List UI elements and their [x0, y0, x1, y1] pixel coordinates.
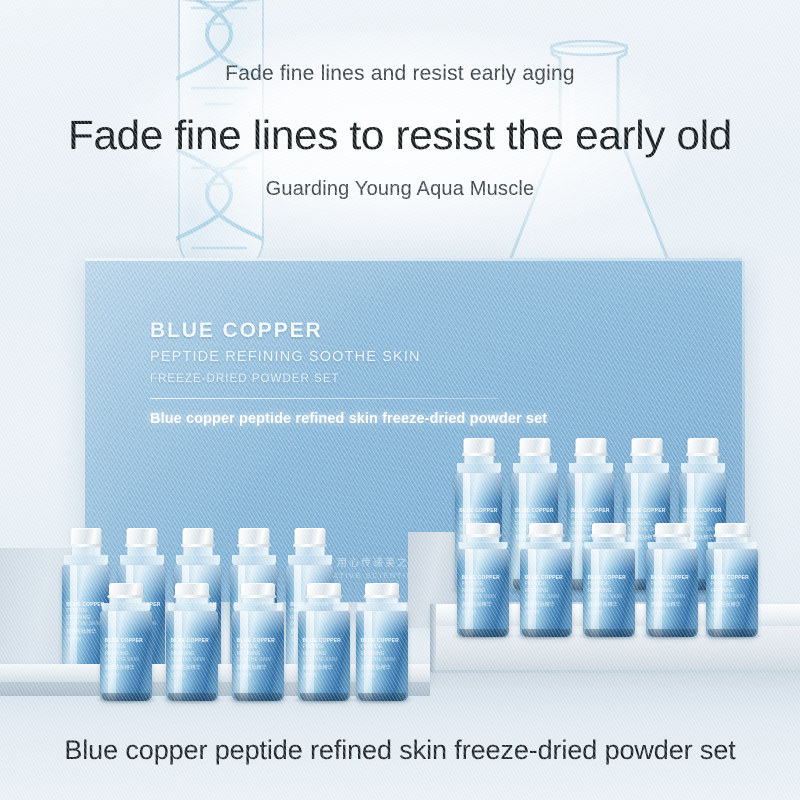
- box-top-edge: [85, 258, 745, 261]
- vial-body: BLUE COPPER PEPTIDE REFINING SOOTHE SKIN…: [583, 549, 635, 637]
- vial-gloss-highlight: [364, 611, 372, 701]
- vial-body: BLUE COPPER PEPTIDE REFINING SOOTHE SKIN…: [520, 549, 572, 637]
- vial: BLUE COPPER PEPTIDE REFINING SOOTHE SKIN…: [457, 523, 509, 637]
- bottom-caption: Blue copper peptide refined skin freeze-…: [0, 735, 800, 766]
- box-subtitle-one: PEPTIDE REFINING SOOTHE SKIN: [150, 350, 680, 365]
- vial-gloss-highlight: [654, 549, 662, 637]
- vial-body: BLUE COPPER PEPTIDE REFINING SOOTHE SKIN…: [100, 611, 152, 701]
- vial-gloss-highlight: [306, 611, 314, 701]
- vial-body: BLUE COPPER PEPTIDE REFINING SOOTHE SKIN…: [706, 549, 758, 637]
- vial-body: BLUE COPPER PEPTIDE REFINING SOOTHE SKIN…: [298, 611, 350, 701]
- vial-gloss-highlight: [575, 473, 582, 590]
- vial-base: [585, 629, 633, 637]
- vial-body: BLUE COPPER PEPTIDE REFINING SOOTHE SKIN…: [232, 611, 284, 701]
- product-marketing-image: Fade fine lines and resist early aging F…: [0, 0, 800, 800]
- vial-gloss-highlight: [174, 611, 182, 701]
- vial-gloss-highlight: [528, 549, 536, 637]
- vial-base: [708, 629, 756, 637]
- vial: BLUE COPPER PEPTIDE REFINING SOOTHE SKIN…: [356, 583, 408, 701]
- platform-right-bevel: [430, 604, 436, 672]
- box-divider: [150, 398, 498, 399]
- vial-body: BLUE COPPER PEPTIDE REFINING SOOTHE SKIN…: [166, 611, 218, 701]
- vial-base: [459, 629, 507, 637]
- vial: BLUE COPPER PEPTIDE REFINING SOOTHE SKIN…: [520, 523, 572, 637]
- subheading-text: Guarding Young Aqua Muscle: [0, 178, 800, 201]
- vial-base: [102, 693, 150, 701]
- vial: BLUE COPPER PEPTIDE REFINING SOOTHE SKIN…: [646, 523, 698, 637]
- vial-base: [234, 693, 282, 701]
- vial-base: [358, 693, 406, 701]
- box-copy-block: BLUE COPPER PEPTIDE REFINING SOOTHE SKIN…: [150, 320, 680, 427]
- vial-base: [522, 629, 570, 637]
- vial-body: BLUE COPPER PEPTIDE REFINING SOOTHE SKIN…: [646, 549, 698, 637]
- vial-gloss-highlight: [714, 549, 722, 637]
- box-subtitle-two: FREEZE-DRIED POWDER SET: [150, 374, 680, 386]
- vial-base: [300, 693, 348, 701]
- vial-gloss-highlight: [591, 549, 599, 637]
- vial: BLUE COPPER PEPTIDE REFINING SOOTHE SKIN…: [583, 523, 635, 637]
- vial: BLUE COPPER PEPTIDE REFINING SOOTHE SKIN…: [100, 583, 152, 701]
- vial-body: BLUE COPPER PEPTIDE REFINING SOOTHE SKIN…: [356, 611, 408, 701]
- eyebrow-text: Fade fine lines and resist early aging: [0, 62, 800, 86]
- box-brand-name: BLUE COPPER: [150, 320, 680, 341]
- vial: BLUE COPPER PEPTIDE REFINING SOOTHE SKIN…: [298, 583, 350, 701]
- vial-body: BLUE COPPER PEPTIDE REFINING SOOTHE SKIN…: [457, 549, 509, 637]
- vial-base: [168, 693, 216, 701]
- vial-gloss-highlight: [465, 549, 473, 637]
- box-tagline: Blue copper peptide refined skin freeze-…: [150, 412, 680, 427]
- vial: BLUE COPPER PEPTIDE REFINING SOOTHE SKIN…: [166, 583, 218, 701]
- vial-gloss-highlight: [108, 611, 116, 701]
- vial-base: [648, 629, 696, 637]
- vial-gloss-highlight: [240, 611, 248, 701]
- page-title: Fade fine lines to resist the early old: [0, 112, 800, 159]
- vial: BLUE COPPER PEPTIDE REFINING SOOTHE SKIN…: [706, 523, 758, 637]
- vial: BLUE COPPER PEPTIDE REFINING SOOTHE SKIN…: [232, 583, 284, 701]
